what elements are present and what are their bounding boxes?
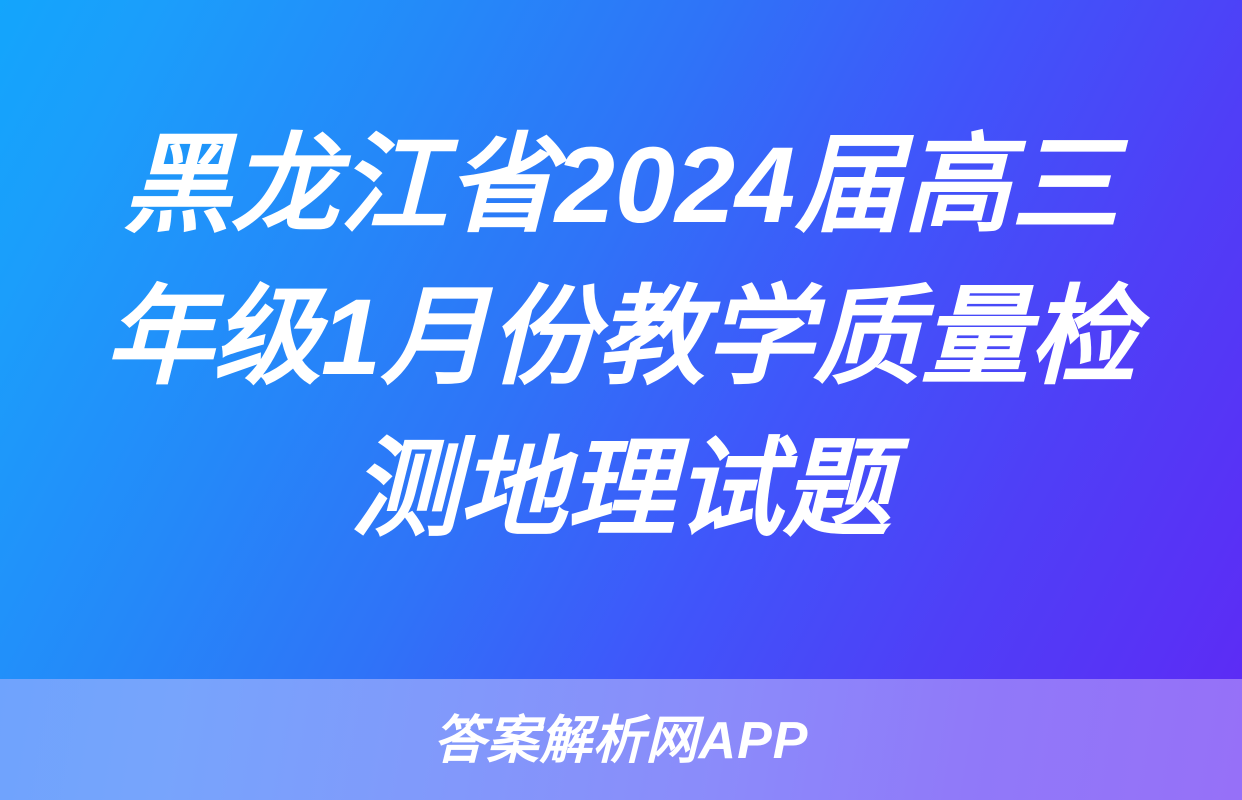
page-title: 黑龙江省2024届高三年级1月份教学质量检测地理试题 xyxy=(91,109,1151,565)
footer-watermark-band: 答案解析网APP xyxy=(0,679,1242,800)
hero-gradient-panel: 黑龙江省2024届高三年级1月份教学质量检测地理试题 xyxy=(0,0,1242,679)
exam-cover-card: 黑龙江省2024届高三年级1月份教学质量检测地理试题 答案解析网APP xyxy=(0,0,1242,800)
app-watermark-label: 答案解析网APP xyxy=(434,715,809,767)
